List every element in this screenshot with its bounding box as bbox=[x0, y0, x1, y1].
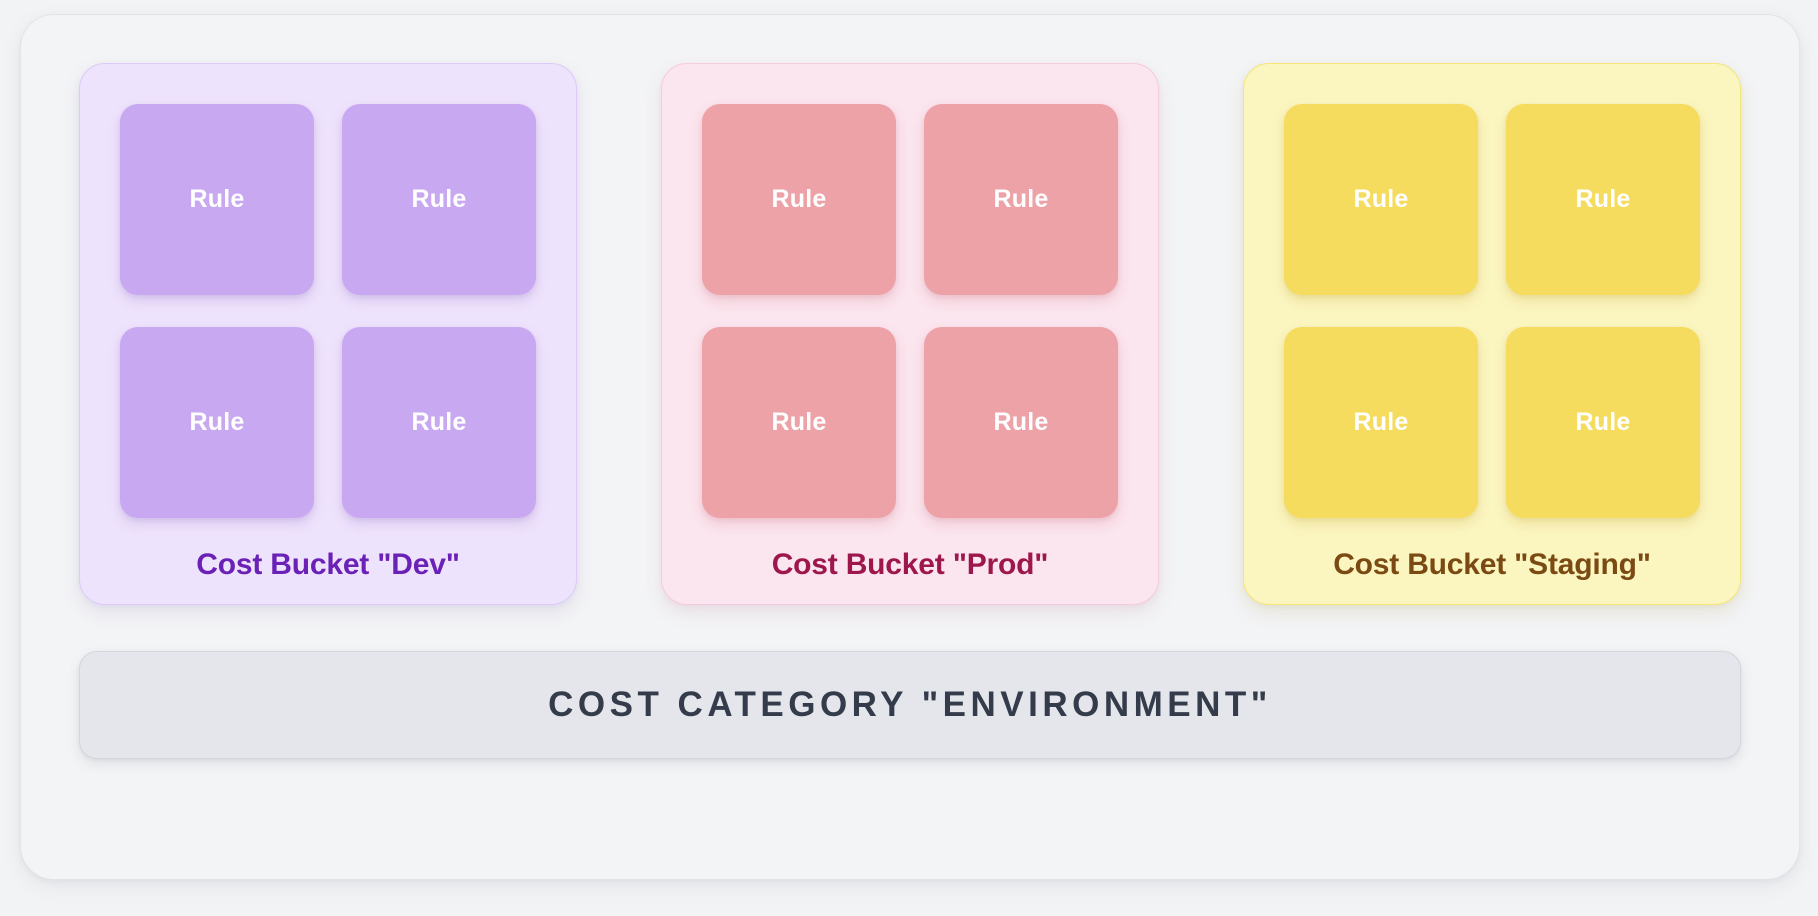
rule-tile[interactable]: Rule bbox=[120, 104, 314, 295]
rules-grid-dev: Rule Rule Rule Rule bbox=[120, 104, 536, 518]
rule-tile[interactable]: Rule bbox=[1506, 104, 1700, 295]
cost-bucket-staging[interactable]: Rule Rule Rule Rule Cost Bucket "Staging… bbox=[1243, 63, 1741, 605]
rule-tile[interactable]: Rule bbox=[120, 327, 314, 518]
cost-category-frame: Rule Rule Rule Rule Cost Bucket "Dev" Ru… bbox=[20, 14, 1800, 880]
rule-tile[interactable]: Rule bbox=[1284, 104, 1478, 295]
cost-category-bar: Cost Category "Environment" bbox=[79, 651, 1741, 759]
cost-bucket-prod[interactable]: Rule Rule Rule Rule Cost Bucket "Prod" bbox=[661, 63, 1159, 605]
cost-bucket-title: Cost Bucket "Dev" bbox=[196, 548, 459, 582]
cost-bucket-title: Cost Bucket "Prod" bbox=[772, 548, 1049, 582]
rule-tile[interactable]: Rule bbox=[1506, 327, 1700, 518]
cost-bucket-dev[interactable]: Rule Rule Rule Rule Cost Bucket "Dev" bbox=[79, 63, 577, 605]
cost-buckets-row: Rule Rule Rule Rule Cost Bucket "Dev" Ru… bbox=[79, 63, 1741, 605]
rule-tile[interactable]: Rule bbox=[702, 104, 896, 295]
rule-tile[interactable]: Rule bbox=[342, 327, 536, 518]
rule-tile[interactable]: Rule bbox=[924, 104, 1118, 295]
rule-tile[interactable]: Rule bbox=[924, 327, 1118, 518]
cost-bucket-title: Cost Bucket "Staging" bbox=[1333, 548, 1651, 582]
rules-grid-prod: Rule Rule Rule Rule bbox=[702, 104, 1118, 518]
rule-tile[interactable]: Rule bbox=[702, 327, 896, 518]
cost-category-label: Cost Category "Environment" bbox=[548, 685, 1272, 725]
rule-tile[interactable]: Rule bbox=[1284, 327, 1478, 518]
rule-tile[interactable]: Rule bbox=[342, 104, 536, 295]
rules-grid-staging: Rule Rule Rule Rule bbox=[1284, 104, 1700, 518]
